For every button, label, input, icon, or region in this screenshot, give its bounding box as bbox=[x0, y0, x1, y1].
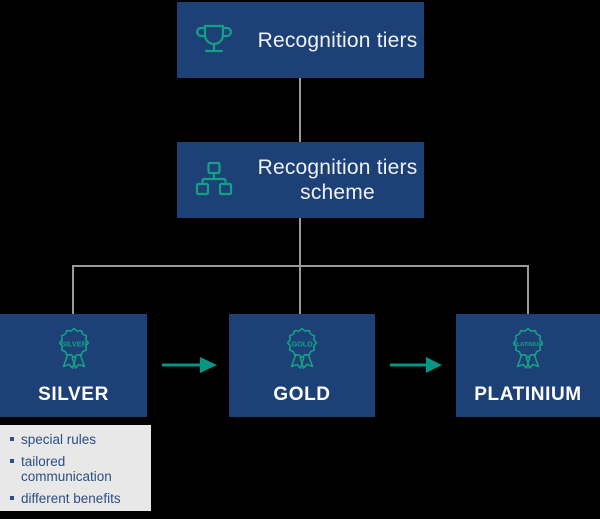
diagram-canvas: Recognition tiers Recognition tiers sche… bbox=[0, 0, 600, 519]
bullet-icon bbox=[10, 496, 14, 500]
tier-benefits-tooltip: special rules tailored communication dif… bbox=[0, 425, 151, 511]
connector-scheme-down bbox=[299, 218, 301, 266]
tier-card-silver[interactable]: SILVER SILVER bbox=[0, 314, 147, 417]
award-badge-icon: SILVER bbox=[50, 325, 98, 378]
tier-card-gold[interactable]: GOLD GOLD bbox=[229, 314, 375, 417]
trophy-icon bbox=[191, 15, 237, 66]
badge-text-platinium: PLATINIUM bbox=[513, 342, 543, 348]
tier-label-silver: SILVER bbox=[38, 384, 109, 406]
list-item: special rules bbox=[9, 432, 143, 447]
list-item-label: tailored communication bbox=[21, 454, 112, 484]
node-recognition-tiers[interactable]: Recognition tiers bbox=[177, 2, 424, 78]
connector-drop-platinium bbox=[527, 265, 529, 314]
node-recognition-tiers-scheme[interactable]: Recognition tiers scheme bbox=[177, 142, 424, 218]
badge-text-silver: SILVER bbox=[60, 340, 87, 349]
bullet-icon bbox=[10, 437, 14, 441]
node-recognition-tiers-label: Recognition tiers bbox=[251, 28, 424, 53]
connector-root-to-scheme bbox=[299, 78, 301, 142]
award-badge-icon: GOLD bbox=[278, 325, 326, 378]
arrow-right-icon-silver-to-gold bbox=[160, 354, 220, 376]
award-badge-icon: PLATINIUM bbox=[504, 325, 552, 378]
hierarchy-icon bbox=[191, 155, 237, 206]
tier-card-platinium[interactable]: PLATINIUM PLATINIUM bbox=[456, 314, 600, 417]
badge-text-gold: GOLD bbox=[291, 340, 313, 349]
connector-drop-silver bbox=[72, 265, 74, 314]
bullet-icon bbox=[10, 459, 14, 463]
tier-label-gold: GOLD bbox=[273, 384, 330, 406]
list-item: different benefits bbox=[9, 491, 143, 506]
connector-drop-gold bbox=[299, 265, 301, 314]
tier-label-platinium: PLATINIUM bbox=[474, 384, 581, 406]
list-item: tailored communication bbox=[9, 454, 143, 484]
list-item-label: special rules bbox=[21, 432, 96, 447]
list-item-label: different benefits bbox=[21, 491, 121, 506]
arrow-right-icon-gold-to-platinium bbox=[388, 354, 445, 376]
node-recognition-tiers-scheme-label: Recognition tiers scheme bbox=[251, 155, 424, 205]
